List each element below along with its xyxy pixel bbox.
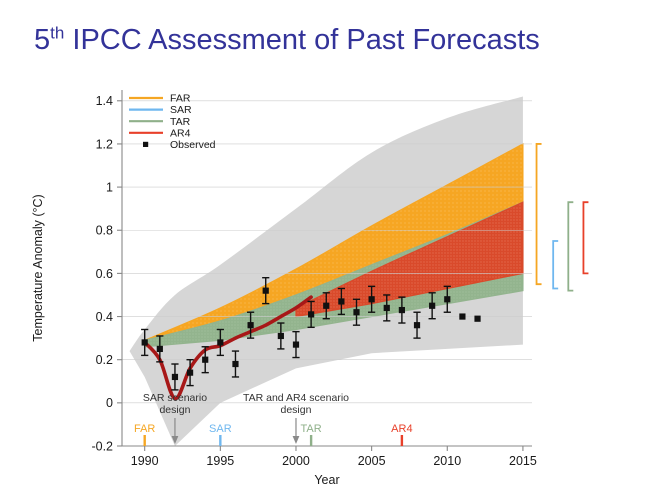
report-marker-label: FAR xyxy=(134,423,155,435)
legend-label: SAR xyxy=(170,104,192,116)
chart-legend: FARSARTARAR4Observed xyxy=(129,93,216,151)
annotation-tar-ar4-scenario-design: TAR and AR4 scenariodesign xyxy=(243,392,349,444)
legend-item-far: FAR xyxy=(129,93,191,105)
observed-marker xyxy=(293,341,299,347)
legend-label: AR4 xyxy=(170,127,191,139)
x-tick-label: 1990 xyxy=(131,454,159,468)
bracket-sar-2015-range xyxy=(553,241,558,288)
y-tick-label: -0.2 xyxy=(91,439,113,453)
y-tick-label: 0.8 xyxy=(96,224,113,238)
y-tick-label: 1 xyxy=(106,180,113,194)
report-marker-sar: SAR xyxy=(209,423,232,446)
legend-label: TAR xyxy=(170,116,191,128)
report-marker-label: SAR xyxy=(209,423,232,435)
observed-marker xyxy=(142,339,148,345)
legend-item-observed: Observed xyxy=(143,139,216,151)
observed-marker xyxy=(444,296,450,302)
observed-marker xyxy=(187,370,193,376)
observed-point xyxy=(474,316,480,322)
y-tick-label: 1.4 xyxy=(96,94,113,108)
observed-point xyxy=(459,313,465,319)
observed-marker xyxy=(232,361,238,367)
observed-marker xyxy=(263,288,269,294)
bracket-ar4-2015-range xyxy=(583,202,588,273)
annotation-line-1: TAR and AR4 scenario xyxy=(243,392,349,404)
legend-label: FAR xyxy=(170,93,191,105)
ipcc-forecast-chart: -0.200.20.40.60.811.21.41990199520002005… xyxy=(0,78,650,488)
range-brackets xyxy=(537,144,589,291)
observed-marker xyxy=(384,305,390,311)
x-tick-label: 2005 xyxy=(358,454,386,468)
title-rest: IPCC Assessment of Past Forecasts xyxy=(64,24,539,56)
observed-marker xyxy=(323,303,329,309)
y-tick-label: 1.2 xyxy=(96,137,113,151)
y-axis-title: Temperature Anomaly (°C) xyxy=(31,194,45,341)
observed-marker xyxy=(369,296,375,302)
observed-marker xyxy=(278,333,284,339)
report-marker-label: TAR xyxy=(301,423,322,435)
x-tick-label: 2010 xyxy=(433,454,461,468)
y-tick-label: 0.2 xyxy=(96,353,113,367)
report-marker-ar4: AR4 xyxy=(391,423,412,446)
page-title: 5th IPCC Assessment of Past Forecasts xyxy=(34,24,540,57)
observed-marker xyxy=(308,311,314,317)
y-tick-label: 0.4 xyxy=(96,310,113,324)
observed-marker xyxy=(217,339,223,345)
observed-marker xyxy=(353,309,359,315)
legend-item-sar: SAR xyxy=(129,104,192,116)
observed-marker xyxy=(459,313,465,319)
legend-item-tar: TAR xyxy=(129,116,191,128)
legend-label: Observed xyxy=(170,139,216,151)
observed-marker xyxy=(202,357,208,363)
title-prefix: 5 xyxy=(34,24,50,56)
bracket-far-2015-range xyxy=(537,144,542,284)
observed-marker xyxy=(429,303,435,309)
legend-item-ar4: AR4 xyxy=(129,127,191,139)
observed-marker xyxy=(157,346,163,352)
title-superscript: th xyxy=(50,23,64,42)
annotation-line-1: SAR scenario xyxy=(143,392,207,404)
slide-canvas: 5th IPCC Assessment of Past Forecasts xyxy=(0,0,650,488)
report-marker-far: FAR xyxy=(134,423,155,446)
chart-svg: -0.200.20.40.60.811.21.41990199520002005… xyxy=(0,78,650,488)
y-tick-label: 0 xyxy=(106,396,113,410)
observed-marker xyxy=(414,322,420,328)
observed-marker xyxy=(172,374,178,380)
annotation-line-2: design xyxy=(281,404,312,416)
x-tick-label: 2015 xyxy=(509,454,537,468)
legend-swatch-square xyxy=(143,142,148,147)
report-marker-label: AR4 xyxy=(391,423,412,435)
x-tick-label: 1995 xyxy=(206,454,234,468)
annotation-arrow-head xyxy=(293,436,300,444)
x-axis-title: Year xyxy=(314,473,339,487)
x-tick-label: 2000 xyxy=(282,454,310,468)
observed-marker xyxy=(338,298,344,304)
observed-marker xyxy=(474,316,480,322)
observed-marker xyxy=(247,322,253,328)
y-tick-label: 0.6 xyxy=(96,267,113,281)
report-marker-tar: TAR xyxy=(301,423,322,446)
observed-marker xyxy=(399,307,405,313)
annotation-line-2: design xyxy=(159,404,190,416)
bracket-tar-2015-range xyxy=(568,202,573,290)
